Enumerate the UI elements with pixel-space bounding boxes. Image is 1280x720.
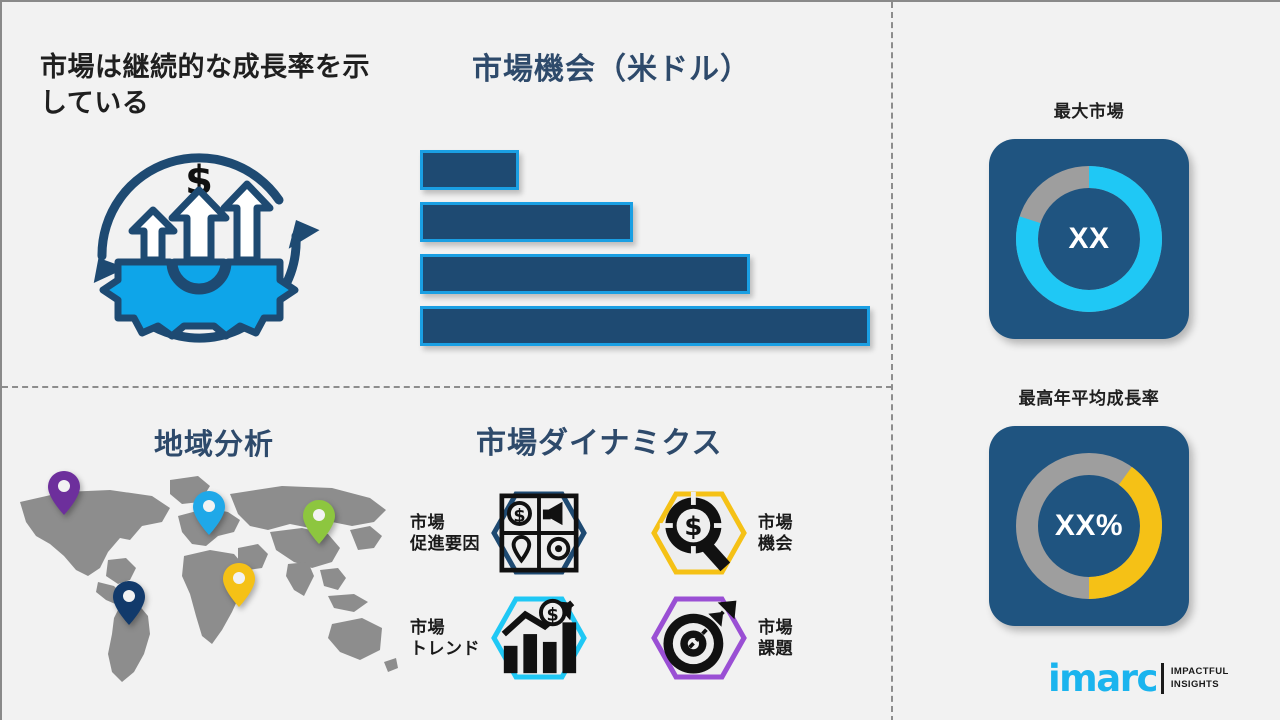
hex-drivers[interactable]: $ <box>490 490 588 576</box>
dynamics-item-opportunities[interactable]: $ 市場 機会 <box>650 490 793 576</box>
svg-text:$: $ <box>547 605 559 625</box>
page-title: 市場は継続的な成長率を示している <box>40 50 380 121</box>
svg-text:$: $ <box>684 512 702 542</box>
slide-canvas: 市場は継続的な成長率を示している $ 市場機会（米ドル） 地域分析 <box>0 0 1280 720</box>
bar-row <box>420 252 890 304</box>
bar-3 <box>420 254 750 294</box>
bar-row <box>420 148 890 200</box>
donut-title-highest-cagr: 最高年平均成長率 <box>959 384 1219 409</box>
horizontal-dashed-divider <box>2 386 892 388</box>
hex-trends[interactable]: $ <box>490 595 588 681</box>
opportunity-title: 市場機会（米ドル） <box>472 50 751 89</box>
bar-1 <box>420 150 519 190</box>
dynamics-label-trends: 市場 トレンド <box>410 617 480 660</box>
donut-value-highest-cagr: XX% <box>1055 509 1123 543</box>
dynamics-item-trends[interactable]: 市場 トレンド $ <box>410 595 588 681</box>
dynamics-label-challenges: 市場 課題 <box>758 617 793 660</box>
dynamics-item-challenges[interactable]: 市場 課題 <box>650 595 793 681</box>
logo-wordmark: imarc <box>1048 660 1157 697</box>
pin-europe[interactable] <box>192 490 226 536</box>
bar-row <box>420 200 890 252</box>
bar-chart-arrow-icon: $ <box>490 595 588 681</box>
target-dart-icon <box>650 595 748 681</box>
hex-opportunities[interactable]: $ <box>650 490 748 576</box>
vertical-dashed-divider <box>891 2 893 720</box>
dynamics-label-drivers: 市場 促進要因 <box>410 512 480 555</box>
bar-2 <box>420 202 633 242</box>
svg-text:$: $ <box>513 506 525 526</box>
hex-challenges[interactable] <box>650 595 748 681</box>
pin-south-america[interactable] <box>112 580 146 626</box>
logo-tagline: IMPACTFUL INSIGHTS <box>1171 666 1229 691</box>
puzzle-pieces-icon: $ <box>490 490 588 576</box>
pin-north-america[interactable] <box>47 470 81 516</box>
donut-value-largest-market: XX <box>1068 222 1109 256</box>
donut-title-largest-market: 最大市場 <box>959 97 1219 122</box>
bar-row <box>420 304 890 356</box>
dynamics-label-opportunities: 市場 機会 <box>758 512 793 555</box>
logo-divider <box>1161 663 1164 694</box>
magnifier-dollar-icon: $ <box>650 490 748 576</box>
logo-tagline-line2: INSIGHTS <box>1171 679 1219 690</box>
donut-card-highest-cagr: XX% <box>989 426 1189 626</box>
imarc-logo: imarc IMPACTFUL INSIGHTS <box>1048 660 1229 697</box>
dynamics-item-drivers[interactable]: 市場 促進要因 $ <box>410 490 588 576</box>
pin-middle-east-africa[interactable] <box>222 562 256 608</box>
market-dynamics-title: 市場ダイナミクス <box>476 424 723 463</box>
pin-east-asia[interactable] <box>302 499 336 545</box>
bar-4 <box>420 306 870 346</box>
donut-card-largest-market: XX <box>989 139 1189 339</box>
regional-analysis-title: 地域分析 <box>154 427 274 465</box>
opportunity-bar-chart <box>420 148 890 356</box>
gear-growth-arrows-icon: $ <box>74 128 324 363</box>
logo-tagline-line1: IMPACTFUL <box>1171 666 1229 677</box>
